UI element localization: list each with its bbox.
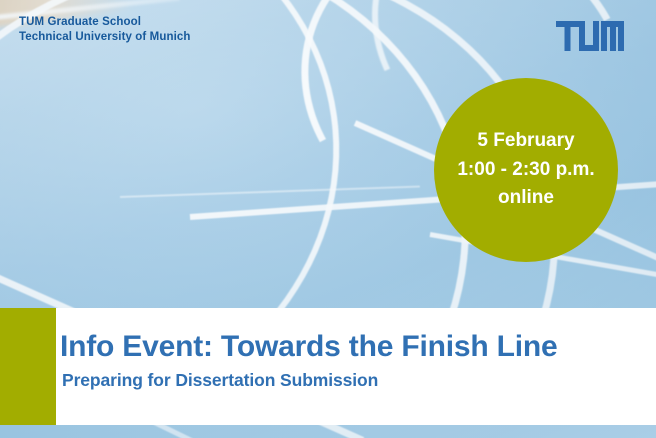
banner-accent-block [0,308,56,425]
event-date: 5 February [477,127,574,156]
event-location: online [498,184,554,213]
event-title: Info Event: Towards the Finish Line [60,330,557,364]
organization-name: TUM Graduate School Technical University… [19,15,191,46]
title-banner: Info Event: Towards the Finish Line Prep… [0,308,656,425]
event-subtitle: Preparing for Dissertation Submission [62,370,378,391]
event-poster: TUM Graduate School Technical University… [0,0,656,438]
event-date-badge: 5 February 1:00 - 2:30 p.m. online [434,78,618,262]
organization-name-line2: Technical University of Munich [19,30,191,45]
tum-logo-icon [556,21,630,51]
organization-name-line1: TUM Graduate School [19,15,191,30]
event-time: 1:00 - 2:30 p.m. [457,156,594,185]
